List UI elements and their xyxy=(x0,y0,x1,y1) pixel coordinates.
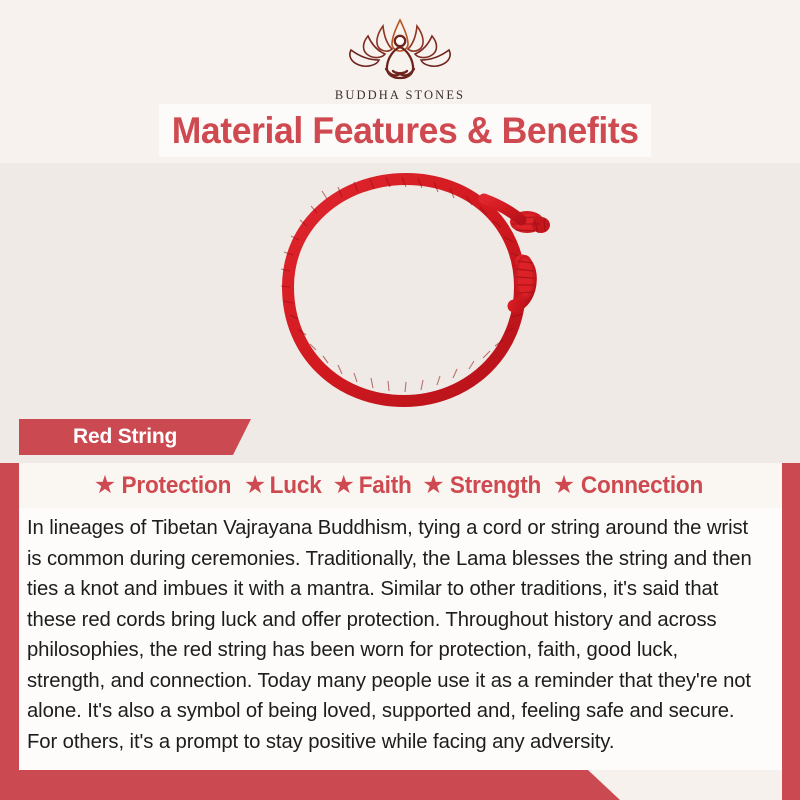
star-icon: ★ xyxy=(94,473,116,498)
brand-name: BUDDHA STONES xyxy=(335,88,465,103)
star-icon: ★ xyxy=(333,473,355,498)
page-title-band: Material Features & Benefits xyxy=(159,104,651,157)
red-string-bracelet-image xyxy=(238,165,578,415)
star-icon: ★ xyxy=(244,473,266,498)
star-icon: ★ xyxy=(422,473,444,498)
feature-faith: ★ Faith xyxy=(333,472,414,500)
feature-label: Connection xyxy=(581,472,703,500)
feature-protection: ★ Protection xyxy=(94,472,235,500)
product-image-section xyxy=(0,163,800,411)
feature-strength: ★ Strength xyxy=(422,472,543,500)
feature-label: Strength xyxy=(450,472,541,500)
star-icon: ★ xyxy=(553,473,575,498)
product-label-banner: Red String xyxy=(19,419,251,455)
feature-connection: ★ Connection xyxy=(553,472,707,500)
description-text: In lineages of Tibetan Vajrayana Buddhis… xyxy=(27,513,753,757)
feature-label: Protection xyxy=(122,472,232,500)
header-section: BUDDHA STONES Material Features & Benefi… xyxy=(0,0,800,163)
features-row: ★ Protection ★ Luck ★ Faith ★ Strength ★… xyxy=(19,463,782,508)
decorative-bottom-band xyxy=(0,770,620,800)
lotus-meditation-icon xyxy=(337,14,463,86)
description-panel: In lineages of Tibetan Vajrayana Buddhis… xyxy=(19,508,782,770)
brand-logo: BUDDHA STONES xyxy=(0,14,800,103)
page-title: Material Features & Benefits xyxy=(172,110,639,152)
product-label: Red String xyxy=(73,425,177,449)
feature-label: Luck xyxy=(270,472,322,500)
feature-label: Faith xyxy=(359,472,412,500)
feature-luck: ★ Luck xyxy=(244,472,324,500)
infographic-canvas: BUDDHA STONES Material Features & Benefi… xyxy=(0,0,800,800)
